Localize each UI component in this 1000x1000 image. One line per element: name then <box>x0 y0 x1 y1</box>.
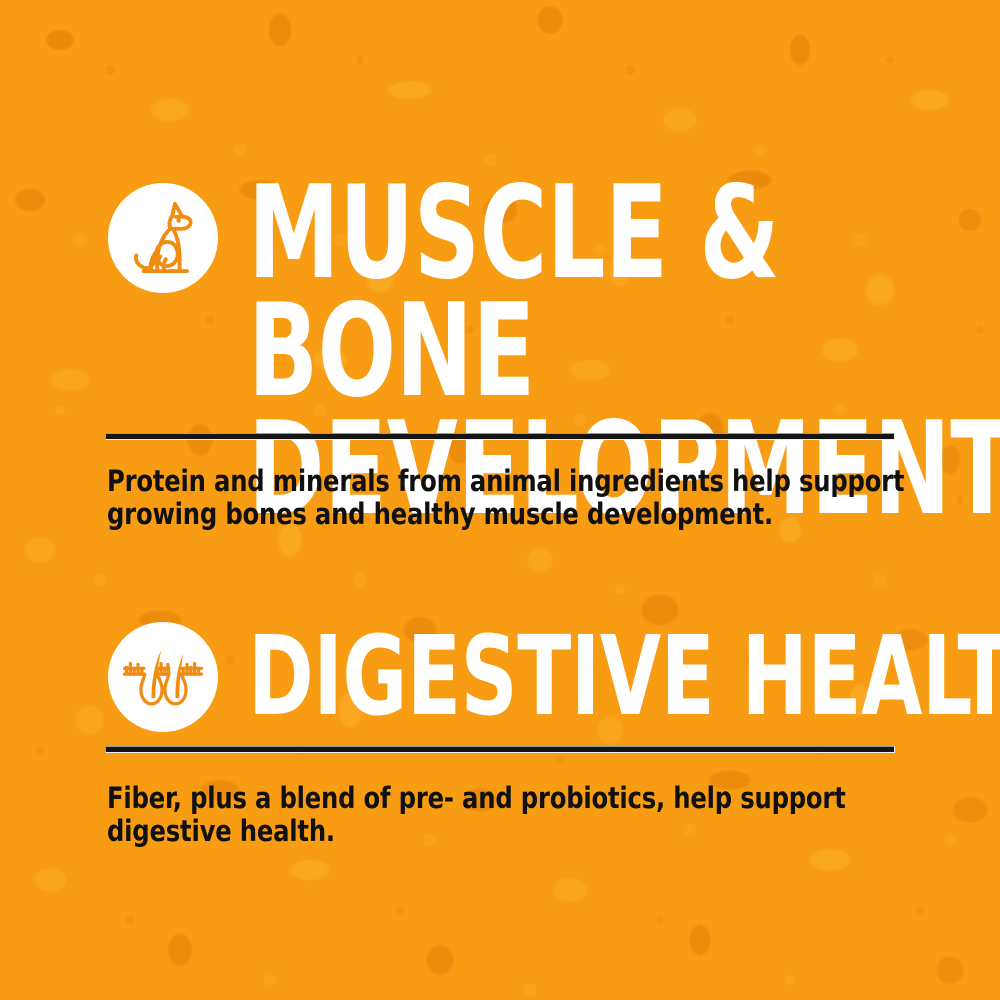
sitting-dog-icon-badge <box>108 183 218 293</box>
hair-follicle-icon-badge <box>108 622 218 732</box>
panel-content: MUSCLE & BONE DEVELOPMENT Protein and mi… <box>0 0 1000 1000</box>
benefit-headline-row: DIGESTIVE HEALTH <box>0 622 1000 732</box>
sitting-dog-icon <box>117 192 209 284</box>
section-divider-2 <box>105 746 895 753</box>
benefit-headline: DIGESTIVE HEALTH <box>248 626 888 727</box>
section-divider-1 <box>105 433 895 440</box>
hair-follicle-icon <box>115 629 211 725</box>
headline-line-1: MUSCLE & BONE <box>248 175 988 411</box>
benefit-digestive-health: DIGESTIVE HEALTH <box>0 622 1000 732</box>
benefits-panel: MUSCLE & BONE DEVELOPMENT Protein and mi… <box>0 0 1000 1000</box>
headline-line-1: DIGESTIVE HEALTH <box>248 626 888 727</box>
benefit-body-muscle-bone: Protein and minerals from animal ingredi… <box>107 465 907 531</box>
benefit-body-digestive-health: Fiber, plus a blend of pre- and probioti… <box>107 782 907 848</box>
